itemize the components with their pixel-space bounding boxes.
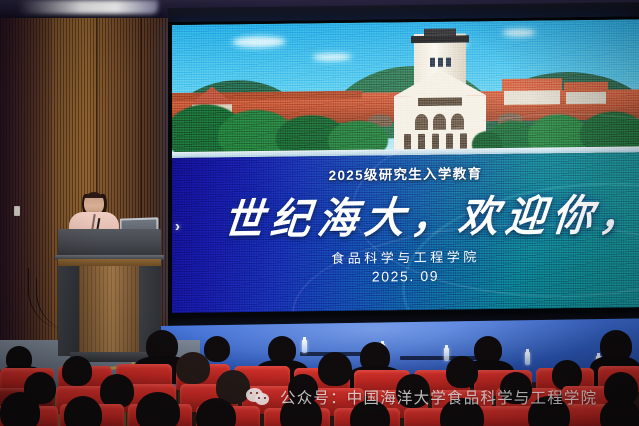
auditorium-photo: › 2025级研究生入学教育 世纪海大，欢迎你，新食品 食品科学与工程学院 20… <box>0 0 639 426</box>
audience-head <box>176 352 210 384</box>
slide-body: › 2025级研究生入学教育 世纪海大，欢迎你，新食品 食品科学与工程学院 20… <box>172 152 639 313</box>
ceiling-light <box>18 0 158 14</box>
audience-head <box>62 356 92 386</box>
slide-main-title: 世纪海大，欢迎你，新食品 <box>221 180 639 247</box>
podium-trim <box>58 259 161 266</box>
audience-head <box>100 374 134 408</box>
audience-head <box>136 392 180 426</box>
podium-side-panel <box>58 266 80 356</box>
audience-head <box>318 352 352 386</box>
wechat-watermark: 公众号：中国海洋大学食品科学与工程学院 <box>246 386 597 408</box>
audience-head <box>204 336 230 362</box>
audience-head <box>446 356 478 388</box>
watermark-text: 公众号：中国海洋大学食品科学与工程学院 <box>280 386 597 408</box>
audience-head <box>600 398 639 426</box>
audience-head <box>64 396 102 426</box>
podium-top <box>58 229 161 256</box>
water-bottle <box>302 340 307 353</box>
podium-column <box>79 266 139 356</box>
audience-head <box>0 392 40 426</box>
slide-chevron-icon: › <box>175 218 180 235</box>
water-bottle <box>444 348 449 361</box>
wechat-icon <box>246 387 272 407</box>
led-screen: › 2025级研究生入学教育 世纪海大，欢迎你，新食品 食品科学与工程学院 20… <box>172 19 639 313</box>
water-bottle <box>525 352 530 365</box>
wall-switch <box>14 206 20 216</box>
